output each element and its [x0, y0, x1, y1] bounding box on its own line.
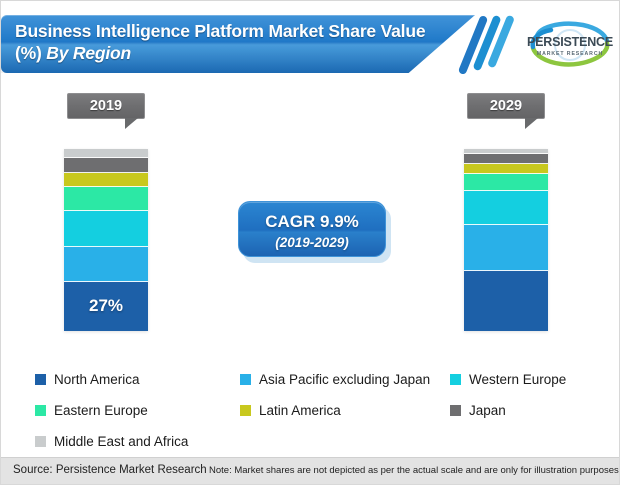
bar-segment — [64, 158, 148, 173]
legend-swatch-icon — [35, 436, 46, 447]
infographic-root: Business Intelligence Platform Market Sh… — [0, 0, 620, 485]
legend-label: Western Europe — [469, 373, 566, 387]
bar-segment — [64, 149, 148, 158]
persistence-market-research-logo: PERSISTENCE MARKET RESEARCH — [525, 19, 615, 73]
slash-accent-icon — [467, 11, 529, 77]
legend-item-western-europe[interactable]: Western Europe — [450, 373, 595, 387]
legend-label: Japan — [469, 404, 506, 418]
legend-row: Eastern EuropeLatin AmericaJapan — [35, 395, 595, 426]
legend-label: Middle East and Africa — [54, 435, 188, 449]
footer-source: Source: Persistence Market Research — [13, 464, 207, 476]
legend-swatch-icon — [240, 374, 251, 385]
year-callout-2019-label: 2019 — [68, 94, 144, 118]
bar-segment — [464, 164, 548, 175]
bar-segment — [464, 225, 548, 271]
bar-segment — [64, 187, 148, 211]
legend-item-north-america[interactable]: North America — [35, 373, 240, 387]
callout-tail-icon — [525, 118, 538, 129]
bar-segment — [64, 173, 148, 188]
legend-swatch-icon — [35, 374, 46, 385]
legend-swatch-icon — [450, 405, 461, 416]
year-callout-2029: 2029 — [467, 93, 545, 119]
logo-tagline: MARKET RESEARCH — [537, 51, 603, 57]
cagr-badge-box: CAGR 9.9% (2019-2029) — [238, 201, 386, 257]
stacked-bar-2029 — [464, 149, 548, 331]
legend-item-middle-east-and-africa[interactable]: Middle East and Africa — [35, 435, 240, 449]
stacked-bar-2019: 27% — [64, 149, 148, 331]
cagr-value: CAGR 9.9% — [239, 202, 385, 231]
chart-legend: North AmericaAsia Pacific excluding Japa… — [35, 364, 595, 457]
legend-label: Eastern Europe — [54, 404, 148, 418]
legend-label: Asia Pacific excluding Japan — [259, 373, 430, 387]
logo-wordmark: PERSISTENCE — [527, 35, 613, 49]
header: Business Intelligence Platform Market Sh… — [1, 15, 620, 73]
callout-tail-icon — [125, 118, 138, 129]
bar-segment-label: 27% — [64, 296, 148, 316]
bar-segment: 27% — [64, 282, 148, 331]
legend-label: Latin America — [259, 404, 341, 418]
bar-segment — [464, 191, 548, 226]
legend-item-japan[interactable]: Japan — [450, 404, 595, 418]
footer-note: Note: Market shares are not depicted as … — [209, 465, 619, 476]
legend-swatch-icon — [450, 374, 461, 385]
legend-swatch-icon — [240, 405, 251, 416]
legend-row: North AmericaAsia Pacific excluding Japa… — [35, 364, 595, 395]
cagr-period: (2019-2029) — [239, 231, 385, 251]
bar-segment — [464, 154, 548, 163]
page-title: Business Intelligence Platform Market Sh… — [15, 20, 455, 64]
page-title-italic: By Region — [46, 43, 131, 63]
year-callout-2029-label: 2029 — [468, 94, 544, 118]
legend-item-eastern-europe[interactable]: Eastern Europe — [35, 404, 240, 418]
bar-segment — [464, 271, 548, 331]
cagr-badge: CAGR 9.9% (2019-2029) — [238, 201, 391, 263]
bar-segment — [64, 211, 148, 247]
legend-item-asia-pacific-excluding-japan[interactable]: Asia Pacific excluding Japan — [240, 373, 450, 387]
year-callout-2019: 2019 — [67, 93, 145, 119]
bar-segment — [64, 247, 148, 282]
footer: Source: Persistence Market Research Note… — [1, 457, 620, 484]
legend-label: North America — [54, 373, 140, 387]
bar-segment — [464, 174, 548, 190]
legend-item-latin-america[interactable]: Latin America — [240, 404, 450, 418]
legend-swatch-icon — [35, 405, 46, 416]
legend-row: Middle East and Africa — [35, 426, 595, 457]
